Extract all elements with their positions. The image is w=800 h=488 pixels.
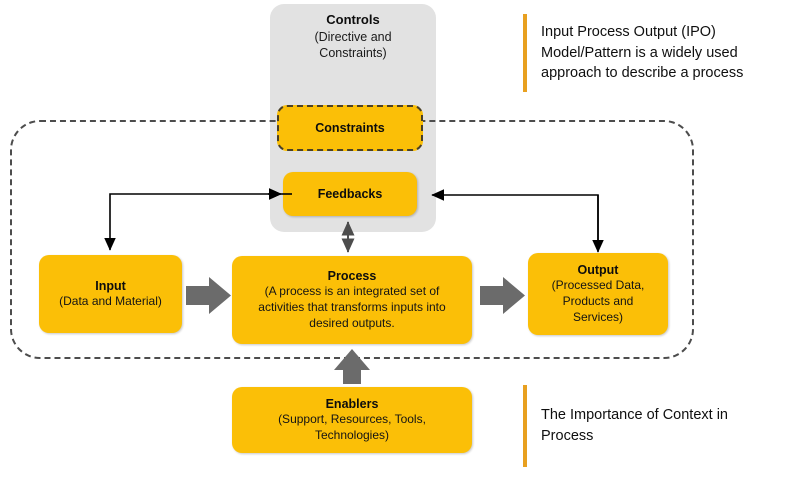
node-output-subtitle-line1: (Processed Data, — [552, 278, 645, 294]
node-output-subtitle-line3: Services) — [573, 310, 623, 326]
node-input-title: Input — [95, 278, 126, 294]
node-enablers-subtitle-line2: Technologies) — [315, 428, 389, 444]
annotation-ipo-model: Input Process Output (IPO) Model/Pattern… — [523, 14, 743, 92]
annotation-top-line3: approach to describe a process — [541, 63, 743, 84]
annotation-ipo-model-text: Input Process Output (IPO) Model/Pattern… — [527, 14, 743, 92]
annotation-bottom-line1: The Importance of Context in — [541, 405, 728, 426]
node-constraints[interactable]: Constraints — [277, 105, 423, 151]
controls-subtitle-line1: (Directive and — [270, 29, 436, 45]
node-process-title: Process — [328, 268, 377, 284]
node-output-subtitle-line2: Products and — [563, 294, 634, 310]
annotation-bottom-line2: Process — [541, 426, 728, 447]
node-input-subtitle: (Data and Material) — [59, 294, 162, 310]
annotation-context-importance: The Importance of Context in Process — [523, 385, 728, 467]
controls-panel-label: Controls (Directive and Constraints) — [270, 12, 436, 61]
node-process-subtitle-line3: desired outputs. — [309, 316, 394, 332]
node-process[interactable]: Process (A process is an integrated set … — [232, 256, 472, 344]
node-feedbacks-title: Feedbacks — [318, 186, 383, 202]
node-output-title: Output — [578, 262, 619, 278]
node-enablers-subtitle-line1: (Support, Resources, Tools, — [278, 412, 426, 428]
node-constraints-title: Constraints — [315, 120, 384, 136]
annotation-top-line1: Input Process Output (IPO) — [541, 22, 743, 43]
node-enablers[interactable]: Enablers (Support, Resources, Tools, Tec… — [232, 387, 472, 453]
annotation-top-line2: Model/Pattern is a widely used — [541, 43, 743, 64]
node-feedbacks[interactable]: Feedbacks — [283, 172, 417, 216]
node-input[interactable]: Input (Data and Material) — [39, 255, 182, 333]
node-process-subtitle-line1: (A process is an integrated set of — [265, 284, 440, 300]
node-enablers-title: Enablers — [326, 396, 379, 412]
controls-subtitle-line2: Constraints) — [270, 45, 436, 61]
node-process-subtitle-line2: activities that transforms inputs into — [258, 300, 445, 316]
diagram-canvas: Controls (Directive and Constraints) — [0, 0, 800, 488]
controls-title: Controls — [270, 12, 436, 29]
node-output[interactable]: Output (Processed Data, Products and Ser… — [528, 253, 668, 335]
annotation-context-importance-text: The Importance of Context in Process — [527, 385, 728, 467]
